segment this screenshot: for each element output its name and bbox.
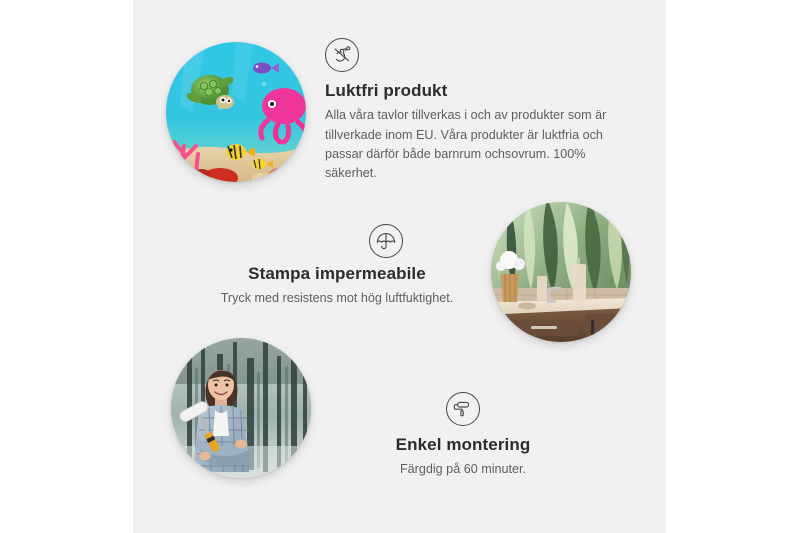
- feature-body: Alla våra tavlor tillverkas i och av pro…: [325, 106, 615, 183]
- feature-body: Tryck med resistens mot hög luftfuktighe…: [151, 289, 523, 308]
- feature-copy-easy-mounting: Enkel montering Färgdig på 60 minuter.: [298, 392, 628, 480]
- paint-roller-icon: [446, 392, 480, 426]
- icon-wrap-easy-mounting: [298, 392, 628, 435]
- umbrella-icon: [369, 224, 403, 258]
- feature-body: Färgdig på 60 minuter.: [298, 460, 628, 479]
- feature-title: Luktfri produkt: [325, 81, 615, 101]
- feature-copy-odour-free: Luktfri produkt Alla våra tavlor tillver…: [325, 38, 615, 183]
- feature-block-easy-mounting: Enkel montering Färgdig på 60 minuter.: [133, 330, 666, 510]
- feature-image-odour-free: [166, 42, 306, 182]
- feature-block-odour-free: Luktfri produkt Alla våra tavlor tillver…: [133, 0, 666, 200]
- feature-copy-waterproof-print: Stampa impermeabile Tryck med resistens …: [151, 224, 523, 309]
- no-perfume-icon: [325, 38, 359, 72]
- page-root: Luktfri produkt Alla våra tavlor tillver…: [0, 0, 800, 533]
- icon-wrap-odour-free: [325, 38, 615, 72]
- circular-photo-painter: [171, 338, 311, 478]
- feature-canvas: Luktfri produkt Alla våra tavlor tillver…: [133, 0, 666, 533]
- feature-title: Enkel montering: [298, 435, 628, 455]
- feature-image-easy-mounting: [171, 338, 311, 478]
- circular-photo-underwater: [166, 42, 306, 182]
- feature-title: Stampa impermeabile: [151, 264, 523, 284]
- icon-wrap-waterproof-print: [369, 224, 403, 267]
